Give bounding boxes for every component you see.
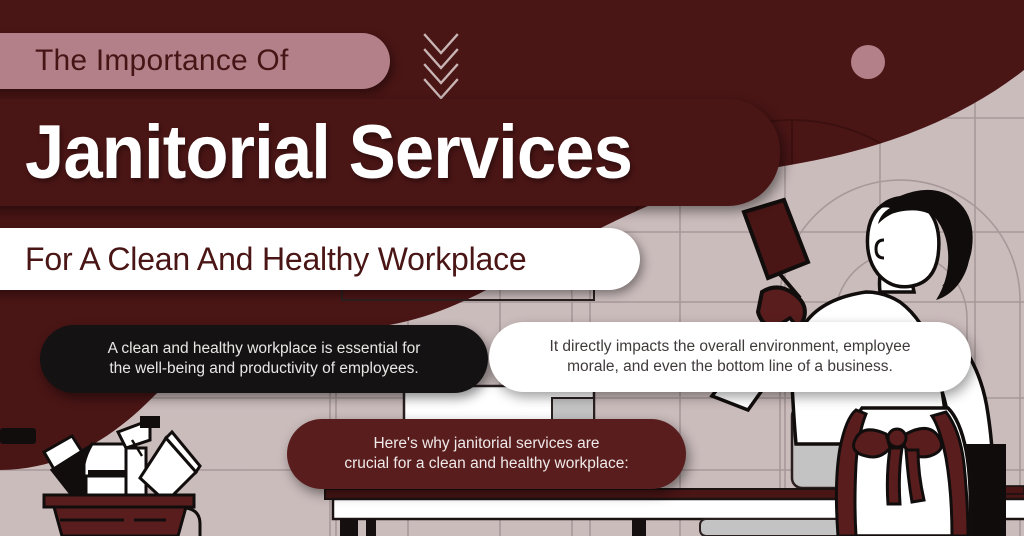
info-bubble-bottom-line1: Here's why janitorial services are (344, 434, 628, 454)
infographic-canvas: The Importance Of Janitorial Services Fo… (0, 0, 1024, 536)
cart-body (44, 495, 200, 536)
circle-dot-icon (851, 45, 885, 79)
info-bubble-bottom-line2: crucial for a clean and healthy workplac… (344, 454, 628, 474)
info-bubble-bottom: Here's why janitorial services are cruci… (287, 419, 686, 489)
title-band: Janitorial Services (0, 99, 780, 206)
info-bubble-right-line2: morale, and even the bottom line of a bu… (550, 357, 911, 377)
info-bubble-right-line1: It directly impacts the overall environm… (550, 337, 911, 357)
info-bubble-left: A clean and healthy workplace is essenti… (40, 325, 488, 393)
info-bubble-right: It directly impacts the overall environm… (489, 322, 971, 392)
subtitle-band: For A Clean And Healthy Workplace (0, 228, 640, 290)
info-bubble-left-line2: the well-being and productivity of emplo… (108, 359, 421, 379)
page-subtitle: For A Clean And Healthy Workplace (25, 243, 527, 275)
eyebrow-text: The Importance Of (35, 46, 289, 76)
info-bubble-left-line1: A clean and healthy workplace is essenti… (108, 339, 421, 359)
page-title: Janitorial Services (25, 115, 632, 191)
eyebrow-pill: The Importance Of (0, 33, 390, 89)
